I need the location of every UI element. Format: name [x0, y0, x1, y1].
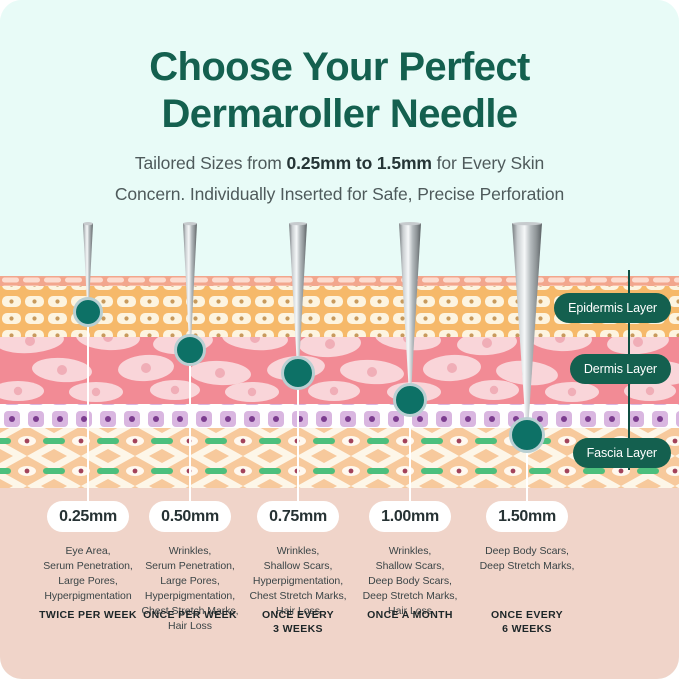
needle-info-panel: 0.25mmEye Area,Serum Penetration,Large P… [0, 488, 679, 679]
page-title: Choose Your Perfect Dermaroller Needle [0, 44, 679, 138]
frequency-1.50mm: ONCE EVERY6 WEEKS [461, 608, 593, 636]
frequency-line: 6 WEEKS [461, 622, 593, 636]
guide-line-0.75mm [297, 373, 299, 506]
concern-item: Shallow Scars, [344, 559, 476, 574]
needle-column-1.00mm: 1.00mmWrinkles,Shallow Scars,Deep Body S… [344, 488, 476, 619]
concern-item: Deep Body Scars, [461, 544, 593, 559]
concerns-list-1.50mm: Deep Body Scars,Deep Stretch Marks, [461, 544, 593, 574]
subtitle-prefix: Tailored Sizes from [135, 153, 287, 173]
concern-item: Deep Stretch Marks, [344, 589, 476, 604]
frequency-line: 3 WEEKS [232, 622, 364, 636]
concern-item: Deep Stretch Marks, [461, 559, 593, 574]
layer-label-epidermis-layer: Epidermis Layer [554, 293, 671, 323]
page-subtitle: Tailored Sizes from 0.25mm to 1.5mm for … [0, 148, 679, 210]
header-section: Choose Your Perfect Dermaroller Needle T… [0, 0, 679, 212]
needle-1.50mm [511, 222, 543, 437]
concern-item: Wrinkles, [344, 544, 476, 559]
needle-tip-dot-1.50mm [509, 417, 545, 453]
guide-line-0.25mm [87, 312, 89, 506]
layer-label-fascia-layer: Fascia Layer [573, 438, 671, 468]
frequency-1.00mm: ONCE A MONTH [344, 608, 476, 622]
needle-0.75mm [288, 222, 308, 375]
subtitle-line-1: Tailored Sizes from 0.25mm to 1.5mm for … [0, 148, 679, 179]
concern-item: Deep Body Scars, [344, 574, 476, 589]
needle-tip-dot-0.50mm [174, 334, 206, 366]
needle-0.50mm [182, 222, 198, 352]
guide-line-0.50mm [189, 350, 191, 506]
title-line-2: Dermaroller Needle [0, 91, 679, 138]
subtitle-range: 0.25mm to 1.5mm [287, 153, 432, 173]
needle-tip-dot-0.25mm [73, 297, 103, 327]
frequency-line: ONCE EVERY [461, 608, 593, 622]
frequency-line: ONCE A MONTH [344, 608, 476, 622]
needle-tip-dot-0.75mm [281, 356, 315, 390]
needle-tip-dot-1.00mm [393, 383, 427, 417]
needle-1.00mm [398, 222, 422, 402]
title-line-1: Choose Your Perfect [149, 45, 530, 89]
layer-label-dermis-layer: Dermis Layer [570, 354, 671, 384]
subtitle-line-2: Concern. Individually Inserted for Safe,… [0, 179, 679, 210]
subtitle-suffix: for Every Skin [432, 153, 544, 173]
infographic-card: Choose Your Perfect Dermaroller Needle T… [0, 0, 679, 679]
